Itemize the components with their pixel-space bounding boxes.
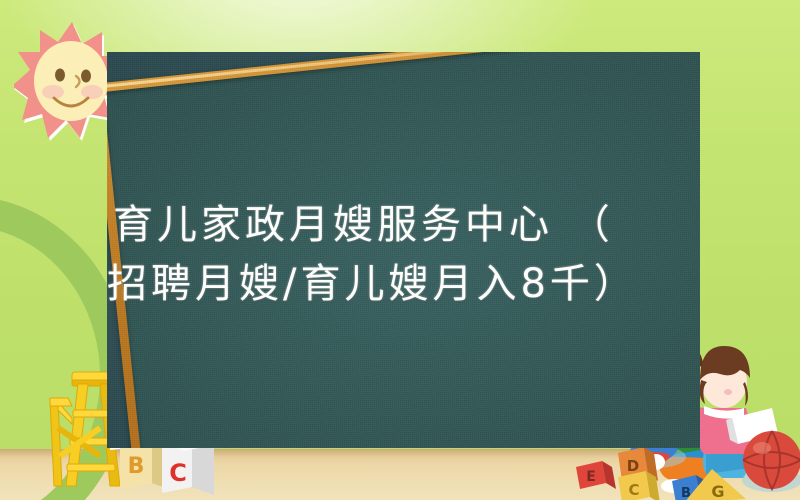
svg-text:D: D (627, 457, 639, 475)
svg-text:C: C (628, 481, 639, 499)
svg-text:C: C (169, 459, 187, 487)
headline-line-1: 育儿家政月嫂服务中心 （ (113, 196, 713, 255)
poster-canvas: A B C (0, 0, 800, 500)
svg-text:B: B (128, 454, 145, 479)
svg-text:G: G (711, 482, 724, 500)
headline-line-2: 招聘月嫂/育儿嫂月入8千） (107, 255, 713, 314)
page-title: 育儿家政月嫂服务中心 （ 招聘月嫂/育儿嫂月入8千） (113, 196, 713, 314)
svg-text:E: E (586, 469, 596, 485)
